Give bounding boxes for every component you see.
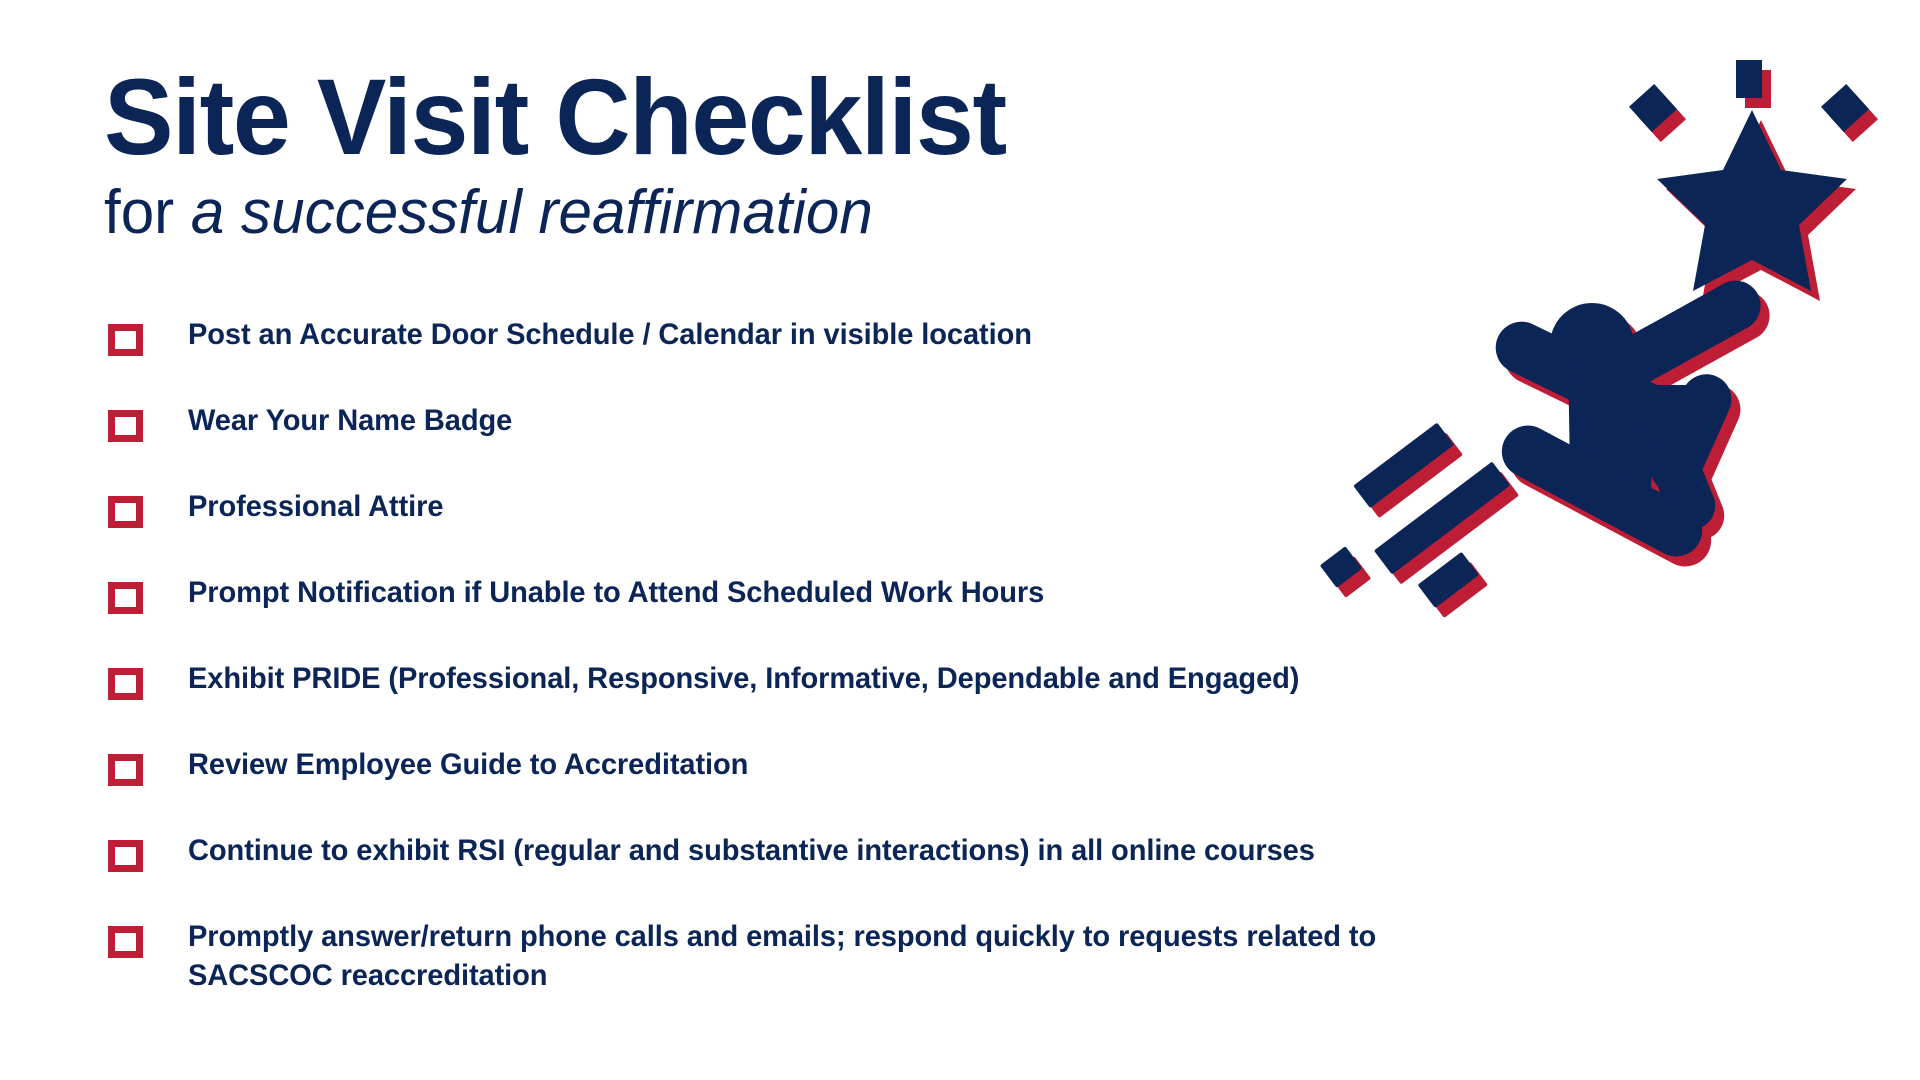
checklist-item-label: Post an Accurate Door Schedule / Calenda… xyxy=(188,313,1032,354)
checkbox-icon[interactable] xyxy=(108,840,143,872)
checklist-item-label: Professional Attire xyxy=(188,485,443,526)
checklist-item[interactable]: Continue to exhibit RSI (regular and sub… xyxy=(108,829,1748,915)
checkbox-icon[interactable] xyxy=(108,410,143,442)
page-title: Site Visit Checklist xyxy=(104,62,1243,172)
checkbox-icon[interactable] xyxy=(108,668,143,700)
checkbox-icon[interactable] xyxy=(108,926,143,958)
checklist-item-label: Review Employee Guide to Accreditation xyxy=(188,743,748,784)
checklist: Post an Accurate Door Schedule / Calenda… xyxy=(108,313,1748,995)
slide-canvas: Site Visit Checklist for a successful re… xyxy=(0,0,1920,1080)
checklist-item-label: Continue to exhibit RSI (regular and sub… xyxy=(188,829,1315,870)
checklist-item[interactable]: Review Employee Guide to Accreditation xyxy=(108,743,1748,829)
checklist-item-label: Promptly answer/return phone calls and e… xyxy=(188,915,1376,995)
checkbox-icon[interactable] xyxy=(108,324,143,356)
checkbox-icon[interactable] xyxy=(108,754,143,786)
checklist-item[interactable]: Wear Your Name Badge xyxy=(108,399,1748,485)
checklist-item[interactable]: Exhibit PRIDE (Professional, Responsive,… xyxy=(108,657,1748,743)
checkbox-icon[interactable] xyxy=(108,582,143,614)
subtitle-emphasis: a successful reaffirmation xyxy=(191,178,873,247)
subtitle-lead: for xyxy=(104,178,191,247)
checklist-item-label: Wear Your Name Badge xyxy=(188,399,512,440)
checklist-item[interactable]: Prompt Notification if Unable to Attend … xyxy=(108,571,1748,657)
heading-block: Site Visit Checklist for a successful re… xyxy=(104,62,1284,245)
checkbox-icon[interactable] xyxy=(108,496,143,528)
checklist-item[interactable]: Promptly answer/return phone calls and e… xyxy=(108,915,1748,995)
checklist-item[interactable]: Professional Attire xyxy=(108,485,1748,571)
checklist-item-label: Prompt Notification if Unable to Attend … xyxy=(188,571,1044,612)
checklist-item-label: Exhibit PRIDE (Professional, Responsive,… xyxy=(188,657,1299,698)
page-subtitle: for a successful reaffirmation xyxy=(104,180,1249,245)
checklist-item[interactable]: Post an Accurate Door Schedule / Calenda… xyxy=(108,313,1748,399)
